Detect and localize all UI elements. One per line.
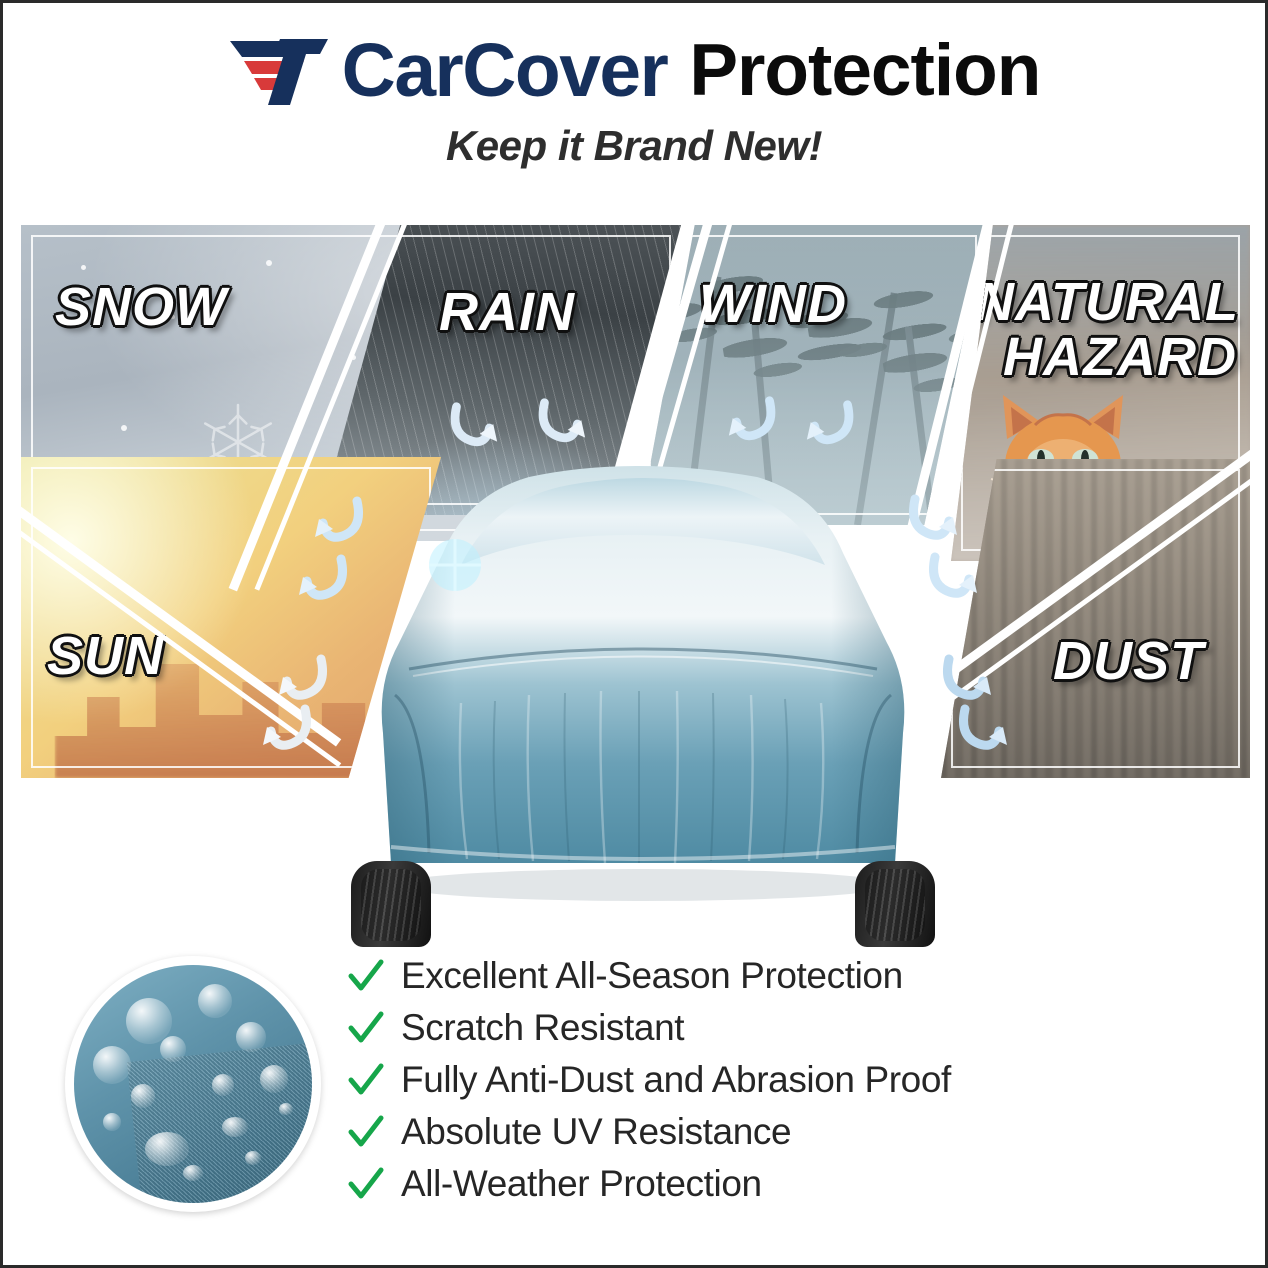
panel-label-snow: SNOW <box>55 280 227 335</box>
list-item: Absolute UV Resistance <box>347 1106 1265 1158</box>
panel-label-dust: DUST <box>1053 634 1204 689</box>
list-item: Excellent All-Season Protection <box>347 950 1265 1002</box>
curved-deflection-arrow-icon <box>441 399 501 459</box>
curved-deflection-arrow-icon <box>295 551 357 613</box>
curved-deflection-arrow-icon <box>725 393 785 453</box>
feature-label: Scratch Resistant <box>401 1007 684 1049</box>
green-check-icon <box>347 1113 385 1151</box>
features-section: Excellent All-Season Protection Scratch … <box>3 938 1265 1268</box>
panel-label-sun: SUN <box>47 629 164 684</box>
brand-row: CarCover Protection <box>228 33 1041 108</box>
curved-deflection-arrow-icon <box>311 493 373 555</box>
feature-label: Absolute UV Resistance <box>401 1111 791 1153</box>
water-beading-fabric-closeup <box>65 956 321 1212</box>
green-check-icon <box>347 1165 385 1203</box>
curved-deflection-arrow-icon <box>803 397 863 457</box>
green-check-icon <box>347 1009 385 1047</box>
panel-label-rain: RAIN <box>439 285 575 340</box>
tire-left <box>351 861 431 947</box>
list-item: All-Weather Protection <box>347 1158 1265 1210</box>
product-infographic: CarCover Protection Keep it Brand New! <box>0 0 1268 1268</box>
icarcover-wing-logo-icon <box>228 35 336 107</box>
curved-deflection-arrow-icon <box>919 549 981 611</box>
curved-deflection-arrow-icon <box>899 491 961 553</box>
feature-label: All-Weather Protection <box>401 1163 762 1205</box>
curved-deflection-arrow-icon <box>259 701 321 763</box>
feature-list: Excellent All-Season Protection Scratch … <box>347 950 1265 1210</box>
car-cover-body <box>333 433 953 903</box>
list-item: Scratch Resistant <box>347 1002 1265 1054</box>
tire-right <box>855 861 935 947</box>
list-item: Fully Anti-Dust and Abrasion Proof <box>347 1054 1265 1106</box>
tagline: Keep it Brand New! <box>446 122 822 170</box>
curved-deflection-arrow-icon <box>529 395 589 455</box>
car-with-cover-front-view <box>333 433 953 953</box>
fabric-weave <box>127 1040 312 1203</box>
header: CarCover Protection Keep it Brand New! <box>3 3 1265 203</box>
green-check-icon <box>347 1061 385 1099</box>
feature-label: Excellent All-Season Protection <box>401 955 903 997</box>
brand-name: CarCover <box>342 33 668 108</box>
green-check-icon <box>347 957 385 995</box>
panel-label-wind: WIND <box>699 277 847 332</box>
page-title: Protection <box>689 34 1040 107</box>
feature-label: Fully Anti-Dust and Abrasion Proof <box>401 1059 951 1101</box>
curved-deflection-arrow-icon <box>949 701 1011 763</box>
panel-label-hazard: NATURAL HAZARD <box>975 275 1237 385</box>
